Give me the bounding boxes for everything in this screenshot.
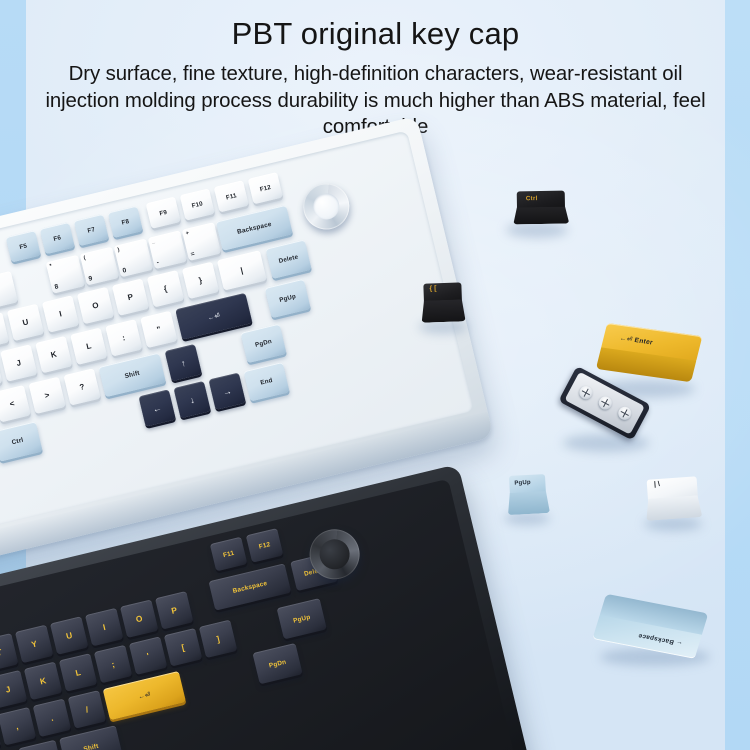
floating-keycap-ctrl[interactable]: Ctrl <box>513 191 570 226</box>
key-8-shift-label: * <box>49 263 53 269</box>
keycap-legend: | \ <box>654 482 660 488</box>
keycap-stem-3 <box>616 405 634 423</box>
key-9-shift-label: ( <box>83 255 86 261</box>
header-block: PBT original key cap Dry surface, fine t… <box>26 16 725 141</box>
keycap-stem-1 <box>577 384 595 402</box>
key-0-label: 0 <box>122 267 127 275</box>
keycap-top-face: Ctrl <box>517 191 565 210</box>
key-minus-shift-label: _ <box>151 239 156 246</box>
key-shift-label: Shift <box>124 370 140 380</box>
key-equal-label: = <box>190 251 196 259</box>
keycap-side-face <box>513 207 569 225</box>
floating-keycap-pgup[interactable]: PgUp <box>506 474 550 516</box>
page-title: PBT original key cap <box>26 16 725 52</box>
product-image-stage: PBT original key cap Dry surface, fine t… <box>0 0 750 750</box>
floating-keycap-bracket[interactable]: { [ <box>420 282 465 324</box>
keycap-stem-2 <box>597 394 615 412</box>
key-0-shift-label: ) <box>117 247 120 253</box>
key-backspace-label: Backspace <box>236 220 272 235</box>
keycap-legend: PgUp <box>514 480 531 487</box>
keycap-side-face <box>421 299 466 323</box>
key-equal-shift-label: + <box>185 230 190 237</box>
keycap-legend: ← Backspace <box>637 632 683 647</box>
key-9-label: 9 <box>88 275 93 283</box>
keycap-side-face <box>645 495 702 521</box>
keycap-legend: Ctrl <box>526 195 538 202</box>
keycap-legend: { [ <box>429 286 436 292</box>
keycap-legend: ←⏎ Enter <box>619 334 654 346</box>
key-8-label: 8 <box>54 283 59 291</box>
keycap-side-face <box>507 491 550 515</box>
floating-keycap-pipe[interactable]: | \ <box>644 476 703 522</box>
key-minus-label: - <box>156 259 160 266</box>
